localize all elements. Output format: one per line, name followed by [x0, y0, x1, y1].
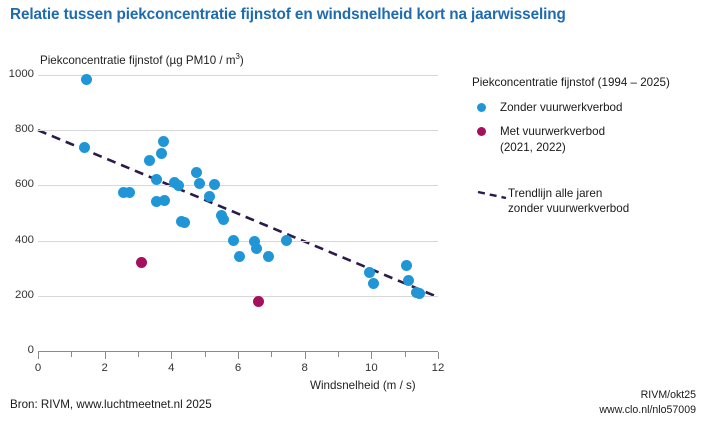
y-axis-tick-label: 200	[0, 290, 34, 301]
scatter-point	[81, 74, 92, 85]
legend-item-met-vuurwerkverbod: Met vuurwerkverbod (2021, 2022)	[472, 124, 700, 155]
trendline	[38, 75, 438, 351]
x-axis-tick	[105, 352, 106, 359]
x-axis-tick	[138, 352, 139, 357]
y-axis-tick-label: 1000	[0, 69, 34, 80]
y-axis-tick-label: 600	[0, 179, 34, 190]
x-axis-tick	[238, 352, 239, 359]
dashed-line-icon	[472, 186, 508, 200]
x-axis-tick-label: 12	[423, 362, 453, 374]
gridline	[38, 75, 438, 76]
footer-org: RIVM/okt25	[599, 388, 696, 403]
scatter-point	[209, 179, 220, 190]
scatter-point	[158, 136, 169, 147]
x-axis-tick	[171, 352, 172, 359]
legend-label-zonder: Zonder vuurwerkverbod	[500, 100, 622, 115]
scatter-point	[173, 180, 184, 191]
legend-title: Piekconcentratie fijnstof (1994 – 2025)	[472, 76, 700, 89]
x-axis-tick	[205, 352, 206, 357]
gridline	[38, 130, 438, 131]
legend: Piekconcentratie fijnstof (1994 – 2025) …	[472, 76, 700, 216]
y-axis-title: Piekconcentratie fijnstof (µg PM10 / m3)	[40, 52, 244, 67]
y-axis-tick-label: 0	[0, 345, 34, 356]
scatter-point	[253, 296, 264, 307]
footer-meta: RIVM/okt25 www.clo.nl/nlo57009	[599, 388, 696, 418]
scatter-point	[403, 275, 414, 286]
scatter-point	[368, 278, 379, 289]
x-axis-tick	[271, 352, 272, 357]
page-title: Relatie tussen piekconcentratie fijnstof…	[10, 6, 690, 24]
plot-area	[38, 75, 438, 351]
scatter-point	[263, 251, 274, 262]
x-axis-tick-label: 6	[223, 362, 253, 374]
legend-item-zonder-vuurwerkverbod: Zonder vuurwerkverbod	[472, 100, 700, 115]
x-axis-tick-label: 4	[156, 362, 186, 374]
scatter-point	[218, 214, 229, 225]
y-axis-tick-label: 400	[0, 235, 34, 246]
y-axis-tick-labels: 02004006008001000	[0, 0, 34, 423]
x-axis-tick-label: 2	[90, 362, 120, 374]
scatter-point	[364, 267, 375, 278]
scatter-point	[414, 288, 425, 299]
legend-label-met: Met vuurwerkverbod (2021, 2022)	[500, 124, 605, 155]
x-axis-tick-label: 0	[23, 362, 53, 374]
x-axis-tick-label: 8	[290, 362, 320, 374]
scatter-point	[79, 142, 90, 153]
footer-source: Bron: RIVM, www.luchtmeetnet.nl 2025	[10, 398, 212, 411]
scatter-point	[156, 148, 167, 159]
scatter-point	[151, 174, 162, 185]
x-axis-tick	[38, 352, 39, 359]
x-axis-tick	[438, 352, 439, 359]
x-axis-title: Windsnelheid (m / s)	[310, 379, 416, 392]
y-axis-tick-label: 800	[0, 124, 34, 135]
x-axis-tick	[338, 352, 339, 357]
gridline	[38, 185, 438, 186]
x-axis-tick	[71, 352, 72, 357]
legend-item-trendline: Trendlijn alle jaren zonder vuurwerkverb…	[472, 186, 700, 217]
footer-url: www.clo.nl/nlo57009	[599, 403, 696, 418]
scatter-point	[228, 235, 239, 246]
scatter-point	[194, 178, 205, 189]
legend-label-trendline: Trendlijn alle jaren zonder vuurwerkverb…	[508, 186, 629, 217]
x-axis-tick-label: 10	[356, 362, 386, 374]
x-axis-tick	[371, 352, 372, 359]
scatter-point	[281, 235, 292, 246]
scatter-point	[251, 243, 262, 254]
scatter-point	[151, 196, 162, 207]
x-axis-tick	[405, 352, 406, 357]
scatter-point	[234, 251, 245, 262]
gridline	[38, 296, 438, 297]
scatter-point	[136, 257, 147, 268]
legend-dot-blue-icon	[472, 100, 500, 112]
legend-dot-magenta-icon	[472, 124, 500, 136]
x-axis-tick	[305, 352, 306, 359]
